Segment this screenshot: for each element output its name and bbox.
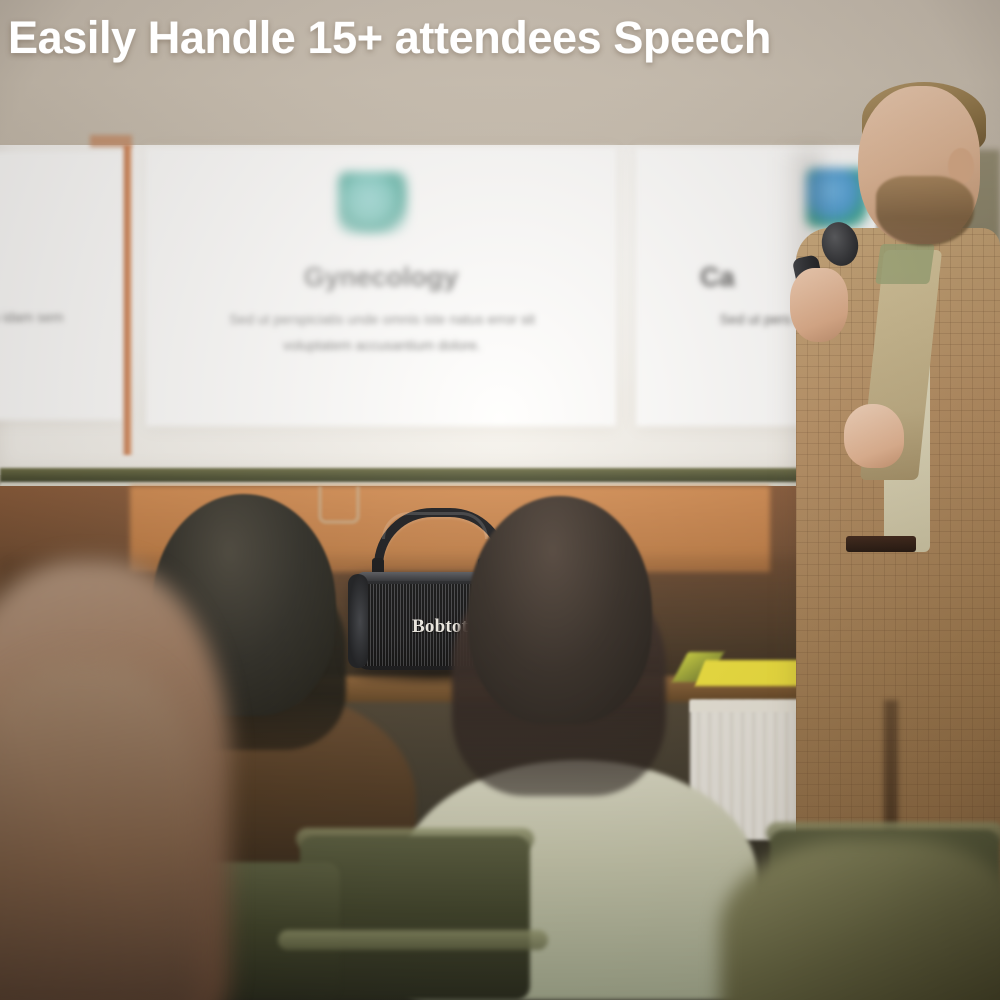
teal-rounded-icon xyxy=(338,172,408,234)
slide-card-center-title: Gynecology xyxy=(216,262,546,293)
presenter-gesturing-hand xyxy=(844,404,904,468)
presenter-beard xyxy=(876,176,974,246)
speaker-handle-highlight xyxy=(382,512,488,539)
page-title: Easily Handle 15+ attendees Speech xyxy=(8,10,1000,66)
speaker-endcap-left xyxy=(348,574,368,668)
presenter-belt xyxy=(846,536,916,552)
slide-card-left xyxy=(0,152,124,420)
presenter-collar xyxy=(875,244,935,284)
attendee-2-head xyxy=(468,496,652,724)
presenter-hand-holding-microphone xyxy=(790,268,848,342)
foreground-attendee-left-hair xyxy=(0,660,200,1000)
screen-frame-divider xyxy=(122,145,133,455)
slide-card-center-body: Sed ut perspiciatis unde omnis iste natu… xyxy=(196,306,568,358)
foreground-attendee-right xyxy=(720,838,1000,1000)
slide-card-left-body: ronto lao idam sem xyxy=(0,304,104,330)
chair-rim-3 xyxy=(278,930,548,950)
product-lifestyle-banner: ronto lao idam sem Gynecology Sed ut per… xyxy=(0,0,1000,1000)
